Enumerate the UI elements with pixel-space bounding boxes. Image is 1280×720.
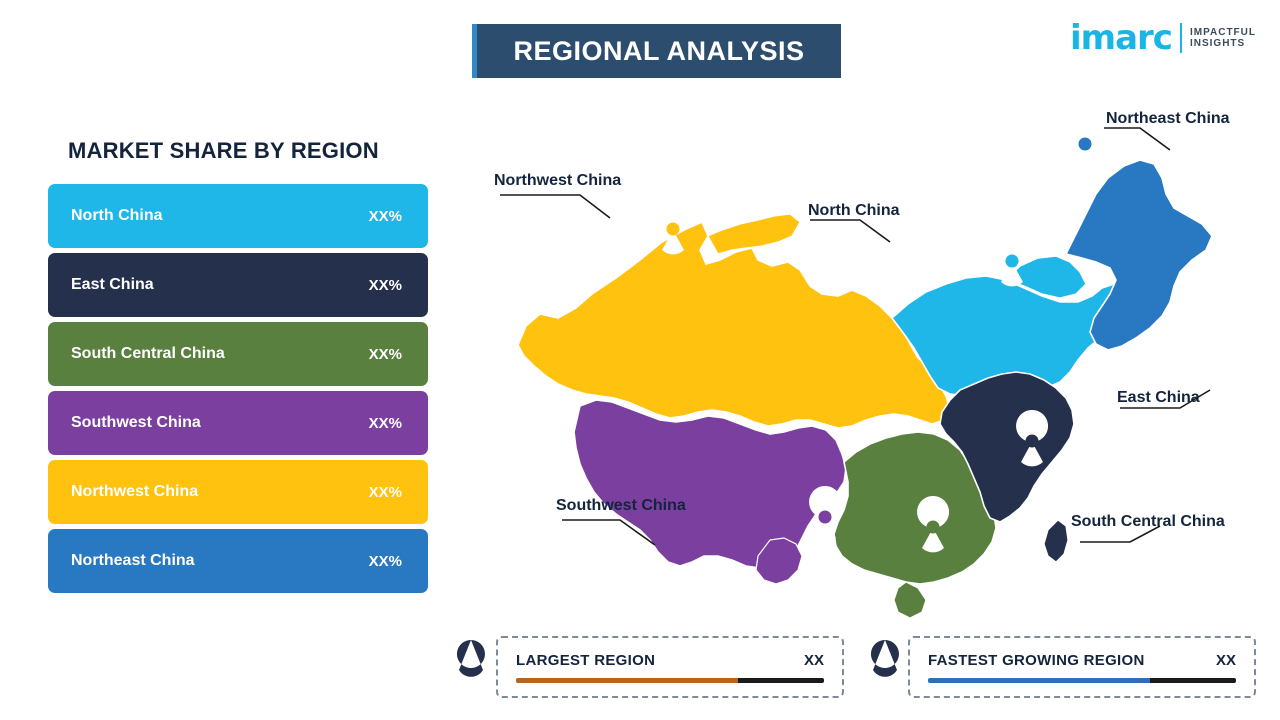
market-share-bar-value: XX% (369, 346, 402, 363)
market-share-bar: East ChinaXX% (48, 253, 428, 317)
market-share-heading: MARKET SHARE BY REGION (68, 138, 438, 164)
market-share-bar: North ChinaXX% (48, 184, 428, 248)
market-share-bar-value: XX% (369, 277, 402, 294)
market-share-bar: Northwest ChinaXX% (48, 460, 428, 524)
largest-region-label: LARGEST REGION (516, 652, 655, 669)
slide-root: REGIONAL ANALYSIS imarc IMPACTFUL INSIGH… (0, 0, 1280, 720)
logo-wordmark: imarc (1070, 18, 1172, 58)
imarc-logo: imarc IMPACTFUL INSIGHTS (1070, 18, 1256, 58)
market-share-bar: Northeast ChinaXX% (48, 529, 428, 593)
market-share-bar-value: XX% (369, 208, 402, 225)
market-share-bar: South Central ChinaXX% (48, 322, 428, 386)
callout-label-east-china: East China (1117, 389, 1200, 407)
market-share-bar-label: Northwest China (71, 483, 198, 501)
logo-tagline-line2: INSIGHTS (1190, 38, 1256, 50)
market-share-bar-label: North China (71, 207, 163, 225)
fastest-region-value: XX (1216, 652, 1236, 669)
largest-region-box: LARGEST REGION XX (496, 636, 844, 698)
market-share-bar-label: Southwest China (71, 414, 201, 432)
market-share-bar-label: East China (71, 276, 154, 294)
fastest-region-label: FASTEST GROWING REGION (928, 652, 1145, 669)
fastest-region-box: FASTEST GROWING REGION XX (908, 636, 1256, 698)
logo-tagline-line1: IMPACTFUL (1190, 27, 1256, 39)
callout-label-north-china: North China (808, 202, 900, 220)
logo-divider (1180, 23, 1182, 53)
callout-label-southwest-china: Southwest China (556, 497, 686, 515)
fastest-region-pin (866, 638, 904, 695)
market-share-bar-value: XX% (369, 484, 402, 501)
market-share-bar-label: South Central China (71, 345, 225, 363)
page-title-text: REGIONAL ANALYSIS (513, 36, 804, 67)
market-share-bar-value: XX% (369, 415, 402, 432)
largest-region-progress (516, 678, 824, 683)
largest-region-value: XX (804, 652, 824, 669)
fastest-region-progress (928, 678, 1236, 683)
market-share-bar-list: North ChinaXX%East ChinaXX%South Central… (48, 184, 428, 598)
china-regional-map (440, 90, 1280, 620)
market-share-bar: Southwest ChinaXX% (48, 391, 428, 455)
map-region-northwest-china (518, 214, 950, 428)
map-region-southwest-china (574, 400, 846, 584)
page-title: REGIONAL ANALYSIS (472, 24, 841, 78)
market-share-bar-value: XX% (369, 553, 402, 570)
callout-label-northwest-china: Northwest China (494, 172, 621, 190)
logo-tagline: IMPACTFUL INSIGHTS (1190, 27, 1256, 50)
largest-region-pin (452, 638, 490, 695)
map-pin-northeast-china-icon (1069, 113, 1101, 169)
callout-label-northeast-china: Northeast China (1106, 110, 1230, 128)
callout-label-south-central-china: South Central China (1071, 513, 1225, 531)
market-share-bar-label: Northeast China (71, 552, 195, 570)
